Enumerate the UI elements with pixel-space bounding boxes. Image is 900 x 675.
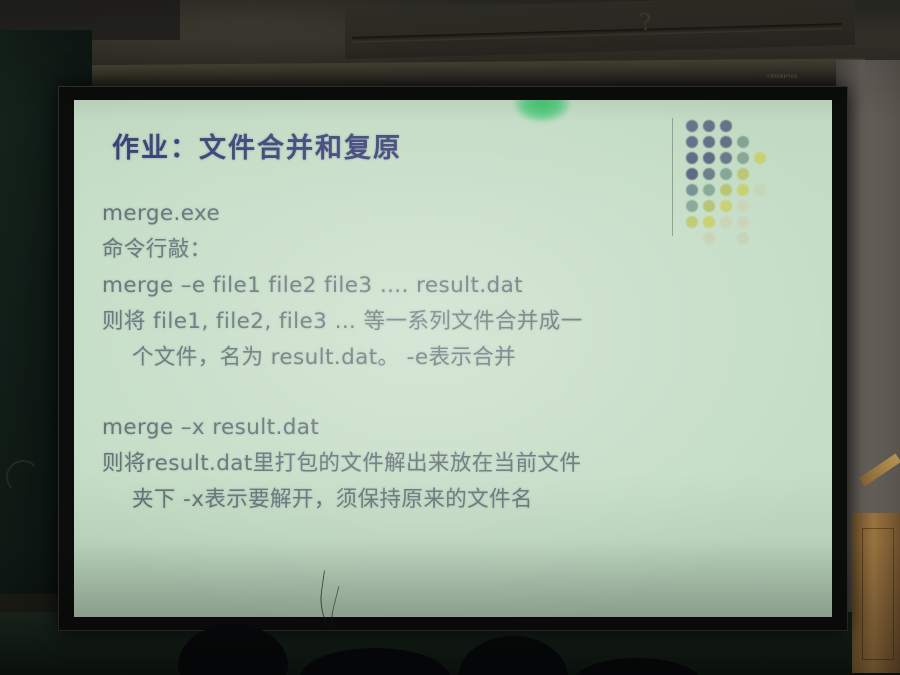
decoration-dot: [686, 152, 698, 164]
slide-body-text: merge.exe命令行敲：merge –e file1 file2 file3…: [102, 196, 762, 518]
decoration-dot: [686, 184, 698, 196]
decoration-dot: [703, 152, 715, 164]
chalk-mark: [6, 460, 40, 494]
podium-panel: [862, 528, 894, 660]
projector-brand-label: ThinkPlus: [766, 74, 798, 80]
slide-line: 夹下 -x表示要解开，须保持原来的文件名: [102, 482, 762, 518]
slide-line: 则将 file1, file2, file3 … 等一系列文件合并成一: [102, 304, 762, 340]
decoration-dot: [703, 136, 715, 148]
slide-line: 命令行敲：: [102, 232, 762, 268]
decoration-dot: [703, 168, 715, 180]
green-projector-glow: [514, 100, 570, 122]
slide-title: 作业：文件合并和复原: [112, 126, 402, 165]
slide-line: merge –x result.dat: [102, 410, 762, 446]
slide-line: merge.exe: [102, 196, 762, 232]
decoration-dot: [720, 184, 732, 196]
decoration-dot: [703, 184, 715, 196]
presentation-slide: 作业：文件合并和复原 merge.exe命令行敲：merge –e file1 …: [74, 100, 832, 617]
slide-line: 则将result.dat里打包的文件解出来放在当前文件: [102, 446, 762, 482]
decoration-dot: [754, 184, 766, 196]
decoration-dot: [720, 136, 732, 148]
decoration-dot: [686, 168, 698, 180]
decoration-dot: [720, 120, 732, 132]
classroom-photo-scene: ? ThinkPlus 作业：文件合并和复原 merge.exe命令行敲：mer…: [0, 0, 900, 675]
decoration-dot: [703, 120, 715, 132]
decoration-dot: [720, 152, 732, 164]
decoration-dot: [686, 120, 698, 132]
decoration-dot: [737, 152, 749, 164]
slide-line-spacer: [102, 376, 762, 410]
decoration-dot: [737, 136, 749, 148]
decoration-dot: [737, 168, 749, 180]
decoration-dot: [686, 136, 698, 148]
decoration-dot: [737, 184, 749, 196]
decoration-dot: [754, 152, 766, 164]
decoration-dot: [720, 168, 732, 180]
slide-line: merge –e file1 file2 file3 …. result.dat: [102, 268, 762, 304]
slide-line: 个文件，名为 result.dat。 -e表示合并: [102, 340, 762, 376]
